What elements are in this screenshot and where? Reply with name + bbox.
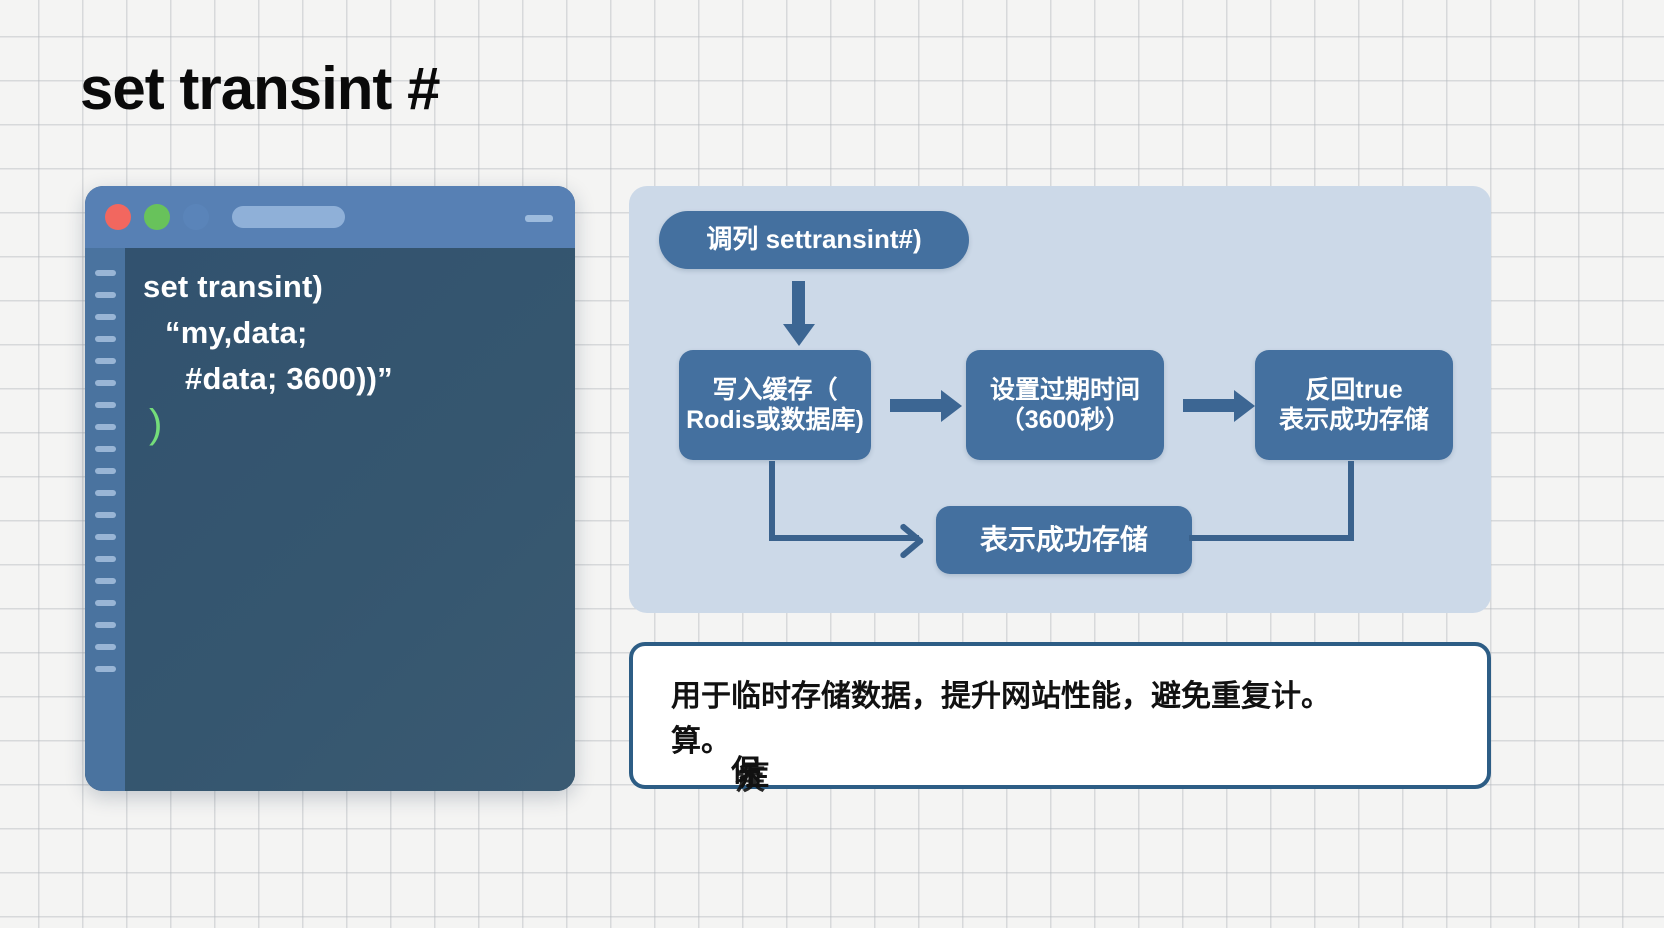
gutter-line-mark — [95, 556, 116, 562]
gutter-line-mark — [95, 666, 116, 672]
page-title: set transint # — [80, 56, 439, 122]
flow-node-write-cache-line1: 写入缓存（ — [712, 375, 837, 406]
gutter-line-mark — [95, 336, 116, 342]
arrow-right-icon — [1183, 399, 1235, 412]
gutter-line-mark — [95, 622, 116, 628]
gutter-line-mark — [95, 424, 116, 430]
arrow-down-icon — [792, 281, 805, 325]
flow-node-return-true[interactable]: 反回true 表示成功存储 — [1255, 350, 1453, 460]
flow-node-write-cache[interactable]: 写入缓存（ Rodis或数据库) — [679, 350, 871, 460]
connector-line-right-horizontal — [1189, 535, 1354, 541]
caption-line-2: 算。 — [671, 725, 731, 758]
connector-line-right-vertical — [1348, 461, 1354, 541]
caption-box: 用于临时存储数据，提升网站性能，避免重复计。 算。保症疾 — [629, 642, 1491, 789]
zoom-button-icon[interactable] — [183, 204, 209, 230]
gutter-line-mark — [95, 292, 116, 298]
arrow-right-icon — [890, 399, 942, 412]
window-titlebar — [85, 186, 575, 248]
gutter-line-mark — [95, 644, 116, 650]
code-line-4: ) — [143, 402, 561, 446]
connector-line-left-horizontal — [769, 535, 919, 541]
gutter-line-mark — [95, 534, 116, 540]
gutter-line-mark — [95, 578, 116, 584]
gutter-line-mark — [95, 358, 116, 364]
code-line-1: set transint) — [143, 264, 561, 310]
flow-node-set-expiry-line2: （3600秒） — [1000, 405, 1131, 436]
flow-node-write-cache-line2: Rodis或数据库) — [686, 405, 864, 436]
flow-node-return-true-line1: 反回true — [1305, 375, 1402, 406]
tab-pill[interactable] — [232, 206, 345, 228]
gutter-line-mark — [95, 468, 116, 474]
minimize-dash-icon[interactable] — [525, 215, 553, 222]
arrow-chevron-icon — [901, 517, 927, 559]
code-editor: set transint) “my,data; #data; 3600))” ) — [85, 248, 575, 791]
code-line-3: #data; 3600))” — [143, 356, 561, 402]
close-button-icon[interactable] — [105, 204, 131, 230]
caption-line-1: 用于临时存储数据，提升网站性能，避免重复计。 — [671, 680, 1331, 713]
gutter-line-mark — [95, 314, 116, 320]
minimize-button-icon[interactable] — [144, 204, 170, 230]
gutter-line-mark — [95, 512, 116, 518]
flow-node-set-expiry-line1: 设置过期时间 — [990, 375, 1140, 406]
gutter-line-mark — [95, 600, 116, 606]
code-line-2: “my,data; — [143, 310, 561, 356]
flow-node-start-label: 调列 settransint#) — [706, 224, 921, 256]
flow-node-success[interactable]: 表示成功存储 — [936, 506, 1192, 574]
gutter-line-mark — [95, 402, 116, 408]
gutter-line-mark — [95, 490, 116, 496]
flow-node-success-label: 表示成功存储 — [980, 523, 1148, 557]
flow-node-return-true-line2: 表示成功存储 — [1279, 405, 1429, 436]
connector-line-left-vertical — [769, 461, 775, 541]
flow-node-start[interactable]: 调列 settransint#) — [659, 211, 969, 269]
code-window: set transint) “my,data; #data; 3600))” ) — [85, 186, 575, 791]
line-number-gutter — [85, 248, 125, 791]
flow-node-set-expiry[interactable]: 设置过期时间 （3600秒） — [966, 350, 1164, 460]
gutter-line-mark — [95, 446, 116, 452]
code-text-area[interactable]: set transint) “my,data; #data; 3600))” ) — [125, 248, 575, 791]
flowchart-panel: 调列 settransint#) 写入缓存（ Rodis或数据库) 设置过期时间… — [629, 186, 1491, 613]
caption-glyph-c: 疾 — [735, 757, 765, 802]
gutter-line-mark — [95, 380, 116, 386]
gutter-line-mark — [95, 270, 116, 276]
